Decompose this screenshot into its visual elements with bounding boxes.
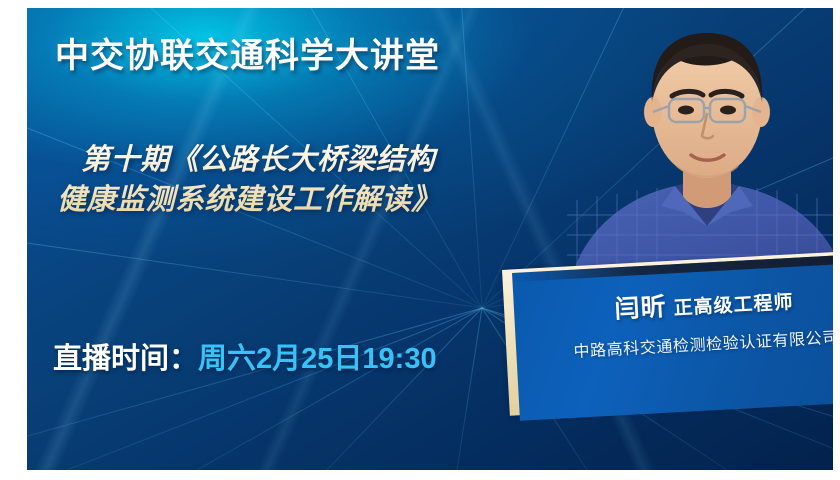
schedule-label: 直播时间： (53, 343, 198, 375)
name-card-content: 闫昕正高级工程师 中路高科交通检测检验认证有限公司 (516, 253, 833, 421)
page-title: 中交协联交通科学大讲堂 (55, 28, 440, 77)
poster-subtitle: 第十期《公路长大桥梁结构 健康监测系统建设工作解读》 (57, 140, 587, 220)
speaker-organization: 中路高科交通检测检验认证有限公司 (573, 324, 833, 362)
broadcast-schedule: 直播时间：周六2月25日19:30 (53, 335, 437, 377)
schedule-value: 周六2月25日19:30 (198, 343, 437, 375)
speaker-title: 正高级工程师 (673, 292, 794, 319)
poster-root: 中交协联交通科学大讲堂 第十期《公路长大桥梁结构 健康监测系统建设工作解读》 直… (0, 0, 840, 480)
subtitle-line-2: 健康监测系统建设工作解读》 (57, 180, 587, 220)
speaker-identity: 闫昕正高级工程师 (614, 280, 795, 326)
speaker-name: 闫昕 (614, 293, 667, 324)
subtitle-line-1: 第十期《公路长大桥梁结构 (57, 140, 587, 180)
speaker-name-card: 闫昕正高级工程师 中路高科交通检测检验认证有限公司 (472, 248, 833, 448)
poster-artwork: 中交协联交通科学大讲堂 第十期《公路长大桥梁结构 健康监测系统建设工作解读》 直… (27, 8, 833, 470)
